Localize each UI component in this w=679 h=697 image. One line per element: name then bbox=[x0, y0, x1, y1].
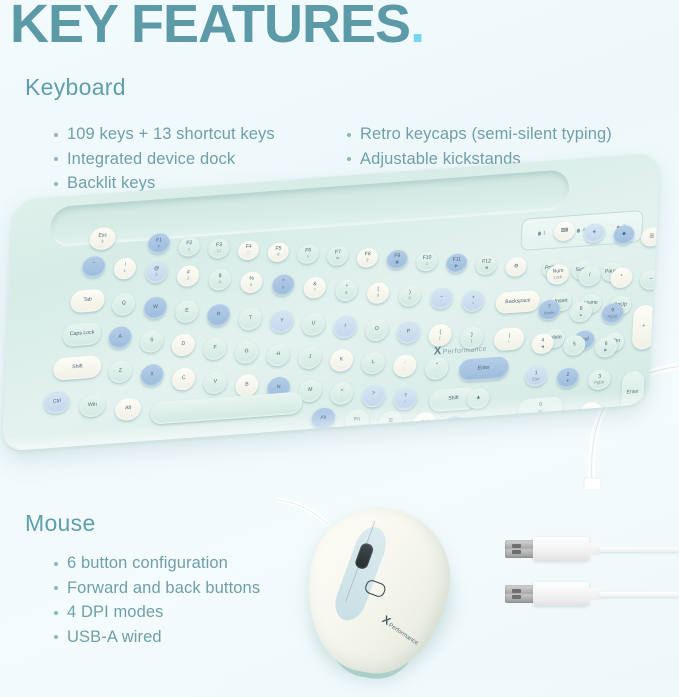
keycap-sublabel: 5 bbox=[250, 283, 252, 288]
keycap[interactable]: 7Home bbox=[538, 299, 561, 321]
keycap[interactable]: F2☼ bbox=[178, 236, 200, 257]
keycap-label: L bbox=[372, 360, 375, 366]
keycap[interactable]: Tab bbox=[70, 289, 105, 314]
keycap[interactable]: 9PgUp bbox=[601, 303, 624, 325]
list-item: 6 button configuration bbox=[52, 551, 260, 576]
keycap[interactable]: Ctrl bbox=[412, 412, 437, 436]
keycap-sublabel: ▲ bbox=[579, 312, 583, 317]
keycap[interactable]: *8 bbox=[335, 279, 358, 302]
keycap[interactable]: _- bbox=[430, 287, 453, 310]
keycap[interactable]: Enter bbox=[621, 370, 645, 416]
keycap-label: C bbox=[182, 376, 186, 382]
keycap[interactable]: T bbox=[238, 307, 262, 331]
keycap[interactable]: @2 bbox=[145, 261, 168, 284]
keycap[interactable]: ☰ bbox=[378, 410, 403, 434]
keycap[interactable]: $4 bbox=[208, 268, 231, 291]
keycap-label: ▲ bbox=[476, 395, 481, 401]
keycap-label: R bbox=[217, 312, 221, 318]
keycap-label: Q bbox=[122, 301, 126, 307]
keycap-sublabel: ; bbox=[404, 366, 405, 371]
keycap[interactable]: (9 bbox=[367, 282, 390, 305]
infographic-canvas: KEY FEATURES. Keyboard 109 keys + 13 sho… bbox=[0, 0, 679, 682]
keycap-sublabel: ◀ bbox=[541, 344, 544, 349]
keycap[interactable]: 5 bbox=[563, 334, 586, 356]
keycap[interactable]: ☒ bbox=[641, 227, 661, 248]
keycap[interactable]: S bbox=[140, 329, 164, 353]
keycap-label: H bbox=[276, 352, 280, 358]
keycap[interactable]: Win bbox=[79, 394, 106, 418]
keycap-label: G bbox=[244, 349, 248, 355]
keycap-label: – bbox=[649, 276, 652, 282]
keycap-label: ▶ bbox=[511, 427, 515, 433]
keycap-sublabel: ⬚ bbox=[246, 251, 250, 256]
keycap-sublabel: ✉ bbox=[336, 257, 340, 262]
keycap-label: Alt bbox=[320, 416, 326, 422]
keyboard-chassis: 1 A ↧ XPerformance Esc§F1☀F2☼F3☐F4⬚F5↺F6… bbox=[2, 153, 661, 452]
keycap-sublabel: PgDn bbox=[594, 380, 604, 385]
page-title-text: KEY FEATURES bbox=[10, 0, 410, 54]
keycap-label: Win bbox=[88, 402, 97, 409]
keycap[interactable]: C bbox=[172, 367, 196, 391]
keycap[interactable]: >. bbox=[362, 384, 386, 408]
keycap[interactable]: L bbox=[361, 351, 385, 375]
keycap-label: Alt bbox=[125, 406, 131, 412]
keycap-label: X bbox=[150, 372, 154, 378]
keycap[interactable]: H bbox=[266, 343, 290, 367]
keyboard-section-heading: Keyboard bbox=[25, 74, 126, 101]
keycap-sublabel: Ins bbox=[538, 408, 544, 413]
keycap-label: Y bbox=[280, 319, 284, 325]
keycap-label: N bbox=[277, 385, 281, 391]
keycap[interactable]: K bbox=[330, 349, 354, 373]
keycap[interactable] bbox=[150, 391, 303, 424]
num-lock-indicator: 1 bbox=[537, 230, 546, 237]
page-title-period: . bbox=[410, 0, 424, 54]
keycap[interactable]: U bbox=[301, 312, 325, 336]
keycap-label: Shift bbox=[72, 364, 83, 371]
keycap[interactable]: F4⬚ bbox=[238, 240, 260, 261]
keycap-label: O bbox=[375, 327, 379, 333]
keycap-sublabel: \ bbox=[508, 340, 509, 345]
keycap-label: I bbox=[344, 324, 346, 330]
keycap-sublabel: / bbox=[404, 400, 405, 405]
keycap[interactable]: 0Ins bbox=[518, 396, 563, 419]
keycap[interactable]: Enter bbox=[458, 356, 509, 382]
keycap-label: Caps Lock bbox=[70, 330, 95, 338]
keycap[interactable]: F9▣ bbox=[386, 249, 408, 270]
keycap[interactable]: D bbox=[171, 333, 195, 357]
keyboard-product-image: 1 A ↧ XPerformance Esc§F1☀F2☼F3☐F4⬚F5↺F6… bbox=[0, 186, 679, 506]
keycap-label: W bbox=[153, 305, 158, 311]
keycap-label: Ctrl bbox=[53, 399, 61, 406]
keycap-label: ☒ bbox=[649, 234, 654, 240]
keycap-sublabel: 1 bbox=[124, 269, 126, 274]
keycap[interactable]: X bbox=[140, 363, 164, 387]
keycap-sublabel: End bbox=[532, 377, 539, 382]
keycap[interactable]: G bbox=[235, 340, 259, 364]
keycap-sublabel: , bbox=[341, 394, 342, 399]
keycap[interactable]: * bbox=[610, 267, 633, 289]
keycap[interactable]: Z bbox=[108, 360, 132, 384]
keycap-label: D bbox=[181, 342, 185, 348]
keycap[interactable]: Alt bbox=[311, 407, 336, 431]
keycap-sublabel: ▣ bbox=[395, 260, 399, 265]
keycap-sublabel: 4 bbox=[218, 280, 220, 285]
list-item: USB-A wired bbox=[52, 625, 260, 650]
keycap-sublabel: 0 bbox=[408, 296, 410, 301]
keycap[interactable]: 1End bbox=[525, 365, 548, 387]
keycap[interactable]: Del bbox=[579, 401, 602, 423]
list-item: Forward and back buttons bbox=[52, 576, 260, 601]
keycap-label: K bbox=[340, 357, 344, 363]
keycap[interactable]: + bbox=[632, 304, 656, 350]
usb-a-plug-icon bbox=[505, 585, 535, 603]
keycap[interactable]: – bbox=[640, 269, 661, 291]
keycap[interactable]: A bbox=[108, 326, 132, 350]
keycap[interactable]: ▲ bbox=[467, 388, 490, 410]
keycap[interactable]: ?/ bbox=[393, 387, 417, 411]
keycap-sublabel: ◀ bbox=[485, 266, 488, 271]
keycap[interactable]: ^6 bbox=[272, 274, 295, 297]
keycap-label: A bbox=[118, 334, 122, 340]
keycap-sublabel: 9 bbox=[377, 294, 379, 299]
keycap[interactable]: Ctrl bbox=[43, 390, 70, 414]
keycap[interactable]: F bbox=[203, 337, 227, 361]
keycap[interactable]: &7 bbox=[303, 276, 326, 299]
keycap[interactable]: Q bbox=[112, 292, 136, 316]
keycap-label: Del bbox=[587, 409, 595, 416]
list-item: Retro keycaps (semi-silent typing) bbox=[345, 122, 612, 147]
keycap[interactable]: P bbox=[396, 321, 420, 345]
keycap[interactable]: :; bbox=[393, 354, 417, 378]
keycap[interactable]: ◀ bbox=[443, 416, 466, 438]
keycap[interactable]: |\ bbox=[494, 327, 525, 351]
keycap[interactable]: Shift bbox=[53, 355, 102, 381]
keycap[interactable]: Alt bbox=[114, 397, 141, 421]
keycap-sublabel: ☼ bbox=[187, 247, 191, 252]
mouse-product-image: XPerformance bbox=[280, 498, 510, 682]
usb-connector-shell bbox=[533, 582, 589, 606]
keycap[interactable]: F1☀ bbox=[147, 233, 170, 255]
keycap[interactable]: Backspace bbox=[495, 290, 540, 314]
keycap[interactable]: )0 bbox=[398, 284, 421, 307]
keycap-sublabel: Lock bbox=[553, 275, 562, 280]
keycap[interactable]: "' bbox=[425, 357, 449, 381]
mouse-section-heading: Mouse bbox=[25, 510, 96, 537]
keycap-sublabel: ↺ bbox=[276, 253, 280, 258]
keycap[interactable]: F10♫ bbox=[416, 251, 438, 272]
keycap-label: Backspace bbox=[505, 298, 531, 306]
keycap[interactable]: %5 bbox=[240, 271, 263, 294]
keycap-sublabel: ☀ bbox=[157, 244, 161, 249]
mouse-center-strip bbox=[330, 523, 392, 625]
keycap-label: B bbox=[245, 382, 249, 388]
keycap-sublabel: ' bbox=[436, 369, 437, 374]
keycap-label: 0 bbox=[539, 403, 542, 409]
keycap[interactable]: #3 bbox=[177, 265, 200, 288]
keycap[interactable]: Fn bbox=[344, 409, 369, 433]
mouse-features-list: 6 button configuration Forward and back … bbox=[52, 551, 260, 649]
keycap-label: Tab bbox=[83, 298, 92, 305]
keycap[interactable]: F12◀ bbox=[475, 255, 497, 276]
keycap-label: S bbox=[150, 338, 154, 344]
usb-cable-wire bbox=[599, 547, 679, 552]
keycap[interactable]: O bbox=[365, 318, 389, 342]
keycap-label: Enter bbox=[626, 390, 639, 397]
keycap[interactable]: NumLock bbox=[546, 263, 569, 285]
keycap[interactable]: 6▶ bbox=[595, 336, 618, 358]
keycap-label: ◀ bbox=[452, 423, 456, 429]
keycap-label: M bbox=[308, 388, 313, 394]
keycap-label: + bbox=[642, 324, 645, 330]
page-title: KEY FEATURES. bbox=[10, 0, 424, 53]
keycap-label: Ctrl bbox=[420, 420, 428, 427]
list-item: 109 keys + 13 shortcut keys bbox=[52, 122, 275, 147]
keycap-sublabel: Home bbox=[544, 310, 555, 315]
keycap-sublabel: PgUp bbox=[607, 314, 617, 319]
keycap-label: U bbox=[311, 321, 315, 327]
keycap[interactable]: F11▶ bbox=[446, 253, 468, 274]
keycap-sublabel: = bbox=[472, 302, 475, 307]
keycap-sublabel: ☐ bbox=[217, 249, 221, 254]
keycap-label: Fn bbox=[354, 417, 360, 423]
keycap[interactable]: E bbox=[175, 300, 199, 324]
keycap[interactable]: F5↺ bbox=[267, 242, 289, 263]
keycap-label: 5 bbox=[573, 342, 576, 348]
keycap[interactable]: F8⚲ bbox=[356, 247, 378, 268]
keycap-label: ☀ bbox=[592, 230, 597, 236]
keycap-sublabel: ` bbox=[93, 267, 95, 272]
usb-connector-shell bbox=[533, 537, 589, 561]
keycap[interactable]: Y bbox=[270, 310, 294, 334]
keycap-sublabel: 7 bbox=[313, 288, 315, 293]
keycap-label: E bbox=[185, 309, 189, 315]
keycap-sublabel: ♫ bbox=[425, 262, 428, 267]
keycap-label: ⌨ bbox=[561, 228, 569, 235]
keycap[interactable]: F3☐ bbox=[208, 238, 230, 259]
keycap[interactable]: {[ bbox=[428, 323, 452, 347]
keycap-label: T bbox=[248, 316, 251, 322]
keycap[interactable]: += bbox=[462, 290, 485, 313]
keycap-sublabel: . bbox=[373, 397, 374, 402]
keycap[interactable]: / bbox=[578, 265, 601, 287]
keycap[interactable]: R bbox=[207, 303, 231, 327]
keycap[interactable]: W bbox=[143, 296, 167, 320]
keycap[interactable]: 3PgDn bbox=[588, 369, 611, 391]
keycap-label: ✹ bbox=[622, 232, 627, 238]
keycap[interactable]: V bbox=[203, 371, 227, 395]
keycap[interactable]: 8▲ bbox=[569, 301, 592, 323]
keycap[interactable]: F6⌗ bbox=[297, 244, 319, 265]
keycap[interactable]: ▶ bbox=[502, 419, 525, 441]
keycap-sublabel: 3 bbox=[187, 277, 189, 282]
keycap[interactable]: <, bbox=[330, 382, 354, 406]
keycap-label: ▼ bbox=[481, 425, 486, 431]
keycap-label: ☰ bbox=[388, 419, 393, 425]
usb-connector-keyboard bbox=[505, 537, 679, 561]
keycap[interactable]: I bbox=[333, 315, 357, 339]
keycap-label: V bbox=[213, 380, 217, 386]
mouse-brand-logo: XPerformance bbox=[380, 614, 422, 648]
keycap[interactable]: F7✉ bbox=[327, 246, 349, 267]
keycap-sublabel: 6 bbox=[282, 286, 284, 291]
keycap-sublabel: ▼ bbox=[566, 378, 570, 383]
keycap-label: P bbox=[407, 329, 411, 335]
keycap-sublabel: 8 bbox=[345, 291, 347, 296]
keycap-sublabel: ⚲ bbox=[366, 258, 369, 263]
keycap-label: Z bbox=[119, 369, 122, 375]
keycap-label: Shift bbox=[448, 396, 459, 403]
usb-connector-mouse bbox=[505, 582, 679, 606]
keycap-label: F bbox=[213, 346, 216, 352]
keycap[interactable]: 2▼ bbox=[556, 367, 579, 389]
usb-cable-wire bbox=[599, 592, 679, 597]
list-item: 4 DPI modes bbox=[52, 600, 260, 625]
keycap-label: ⚙ bbox=[514, 264, 519, 270]
keycap-sublabel: 2 bbox=[155, 273, 157, 278]
keycap[interactable]: Caps Lock bbox=[62, 322, 101, 347]
keycap-label: Enter bbox=[477, 366, 490, 373]
keycap-sublabel: ] bbox=[471, 338, 472, 343]
keycap-sublabel: ⌗ bbox=[307, 255, 309, 260]
keycap[interactable]: Esc§ bbox=[89, 227, 116, 251]
keycap-sublabel: [ bbox=[439, 336, 440, 341]
usb-a-plug-icon bbox=[505, 540, 535, 558]
keycap-sublabel: § bbox=[101, 239, 103, 244]
keycap-label: J bbox=[308, 355, 311, 361]
keycap[interactable]: ▼ bbox=[472, 417, 495, 439]
keycap-sublabel: ▶ bbox=[455, 264, 458, 269]
keycap[interactable]: B bbox=[235, 374, 259, 398]
keycap[interactable]: 4◀ bbox=[531, 333, 554, 355]
keycap[interactable]: ⚙ bbox=[505, 257, 527, 278]
keycap-sublabel: - bbox=[441, 299, 443, 304]
keycap[interactable]: J bbox=[298, 346, 322, 370]
keycap-sublabel: ▶ bbox=[604, 348, 607, 353]
keycap[interactable]: ~` bbox=[82, 255, 106, 278]
list-item: Integrated device dock bbox=[52, 147, 275, 172]
keycap-label: * bbox=[620, 275, 622, 281]
keycap[interactable]: !1 bbox=[113, 257, 136, 280]
keycap-label: / bbox=[589, 273, 591, 279]
